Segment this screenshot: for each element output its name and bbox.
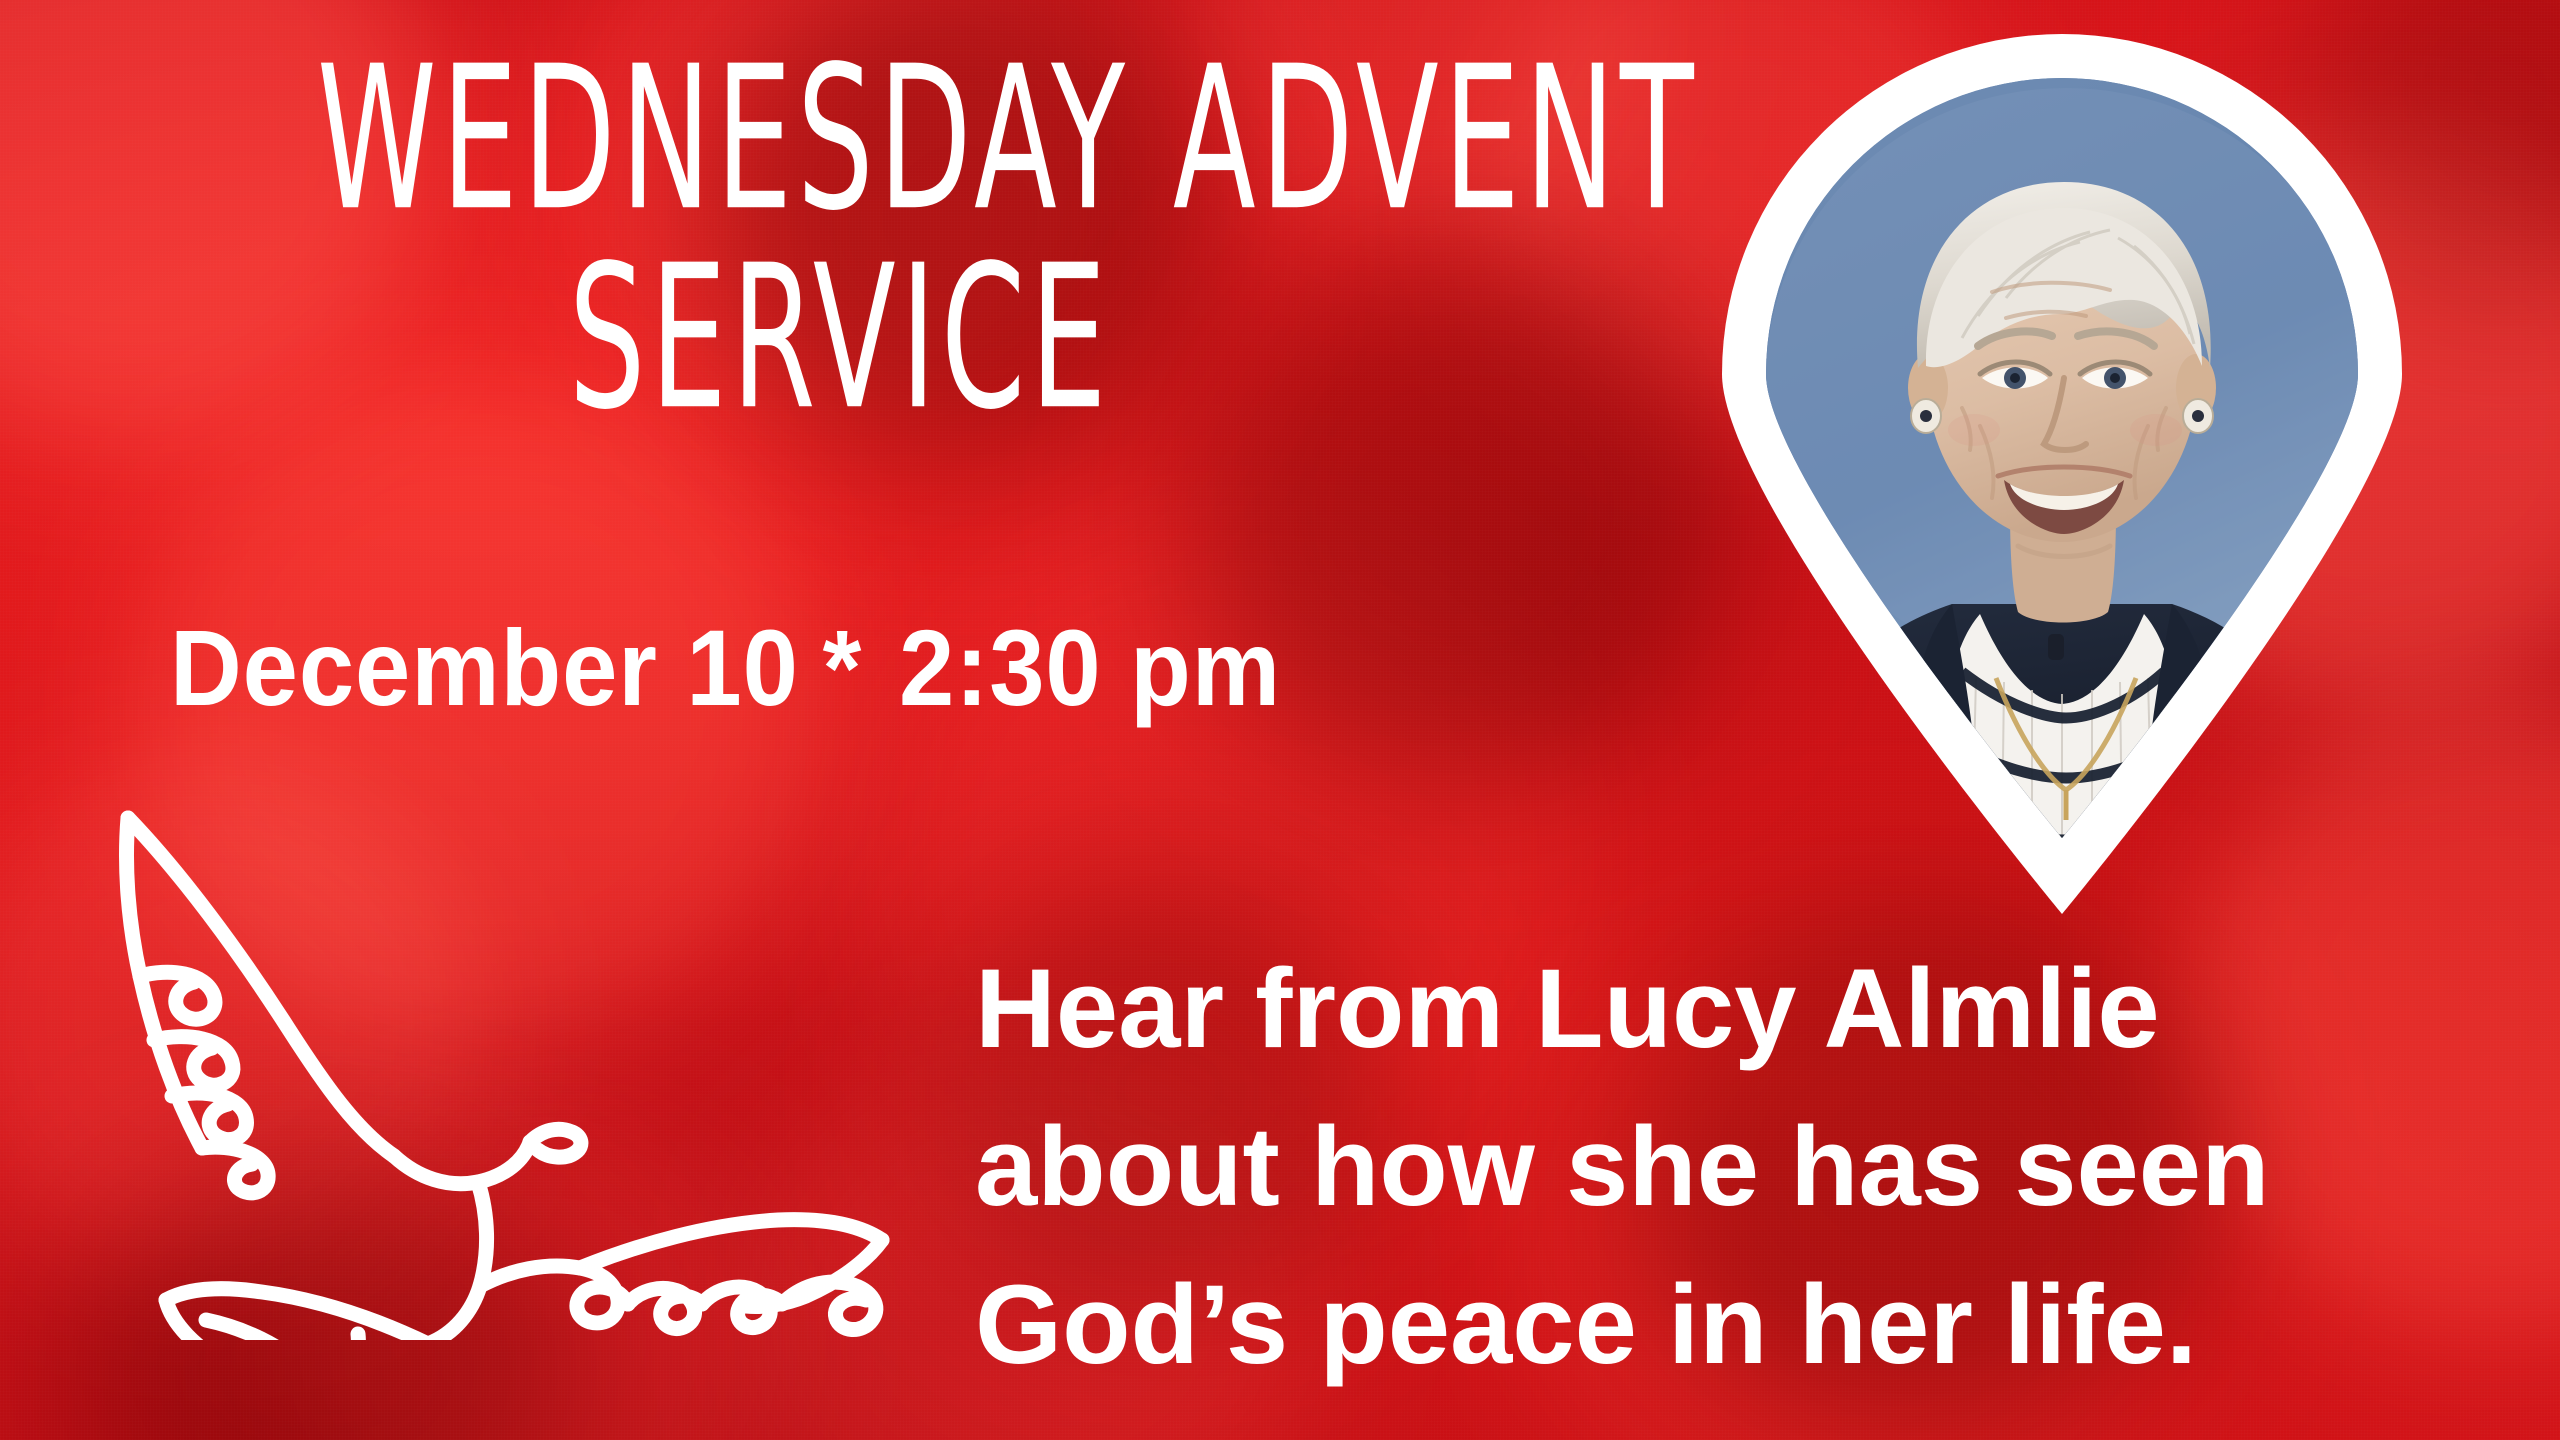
title-line-1: Wednesday Advent — [317, 42, 1413, 236]
description-line-1: Hear from Lucy Almlie — [975, 930, 2315, 1088]
dove-line-art-icon — [110, 800, 900, 1340]
event-description: Hear from Lucy Almlie about how she has … — [975, 930, 2315, 1404]
description-line-2: about how she has seen — [975, 1088, 2315, 1246]
avatar — [1766, 78, 2358, 838]
event-datetime: December 10*2:30 pm — [170, 605, 1281, 730]
page-title: Wednesday Advent Service — [120, 42, 1550, 405]
event-time: 2:30 pm — [886, 607, 1281, 728]
datetime-separator: * — [799, 607, 886, 728]
map-pin-portrait — [1722, 34, 2402, 914]
advent-service-poster: Wednesday Advent Service December 10*2:3… — [0, 0, 2560, 1440]
description-line-3: God’s peace in her life. — [975, 1246, 2315, 1404]
title-line-2: Service — [272, 241, 1408, 435]
event-date: December 10 — [170, 607, 799, 728]
